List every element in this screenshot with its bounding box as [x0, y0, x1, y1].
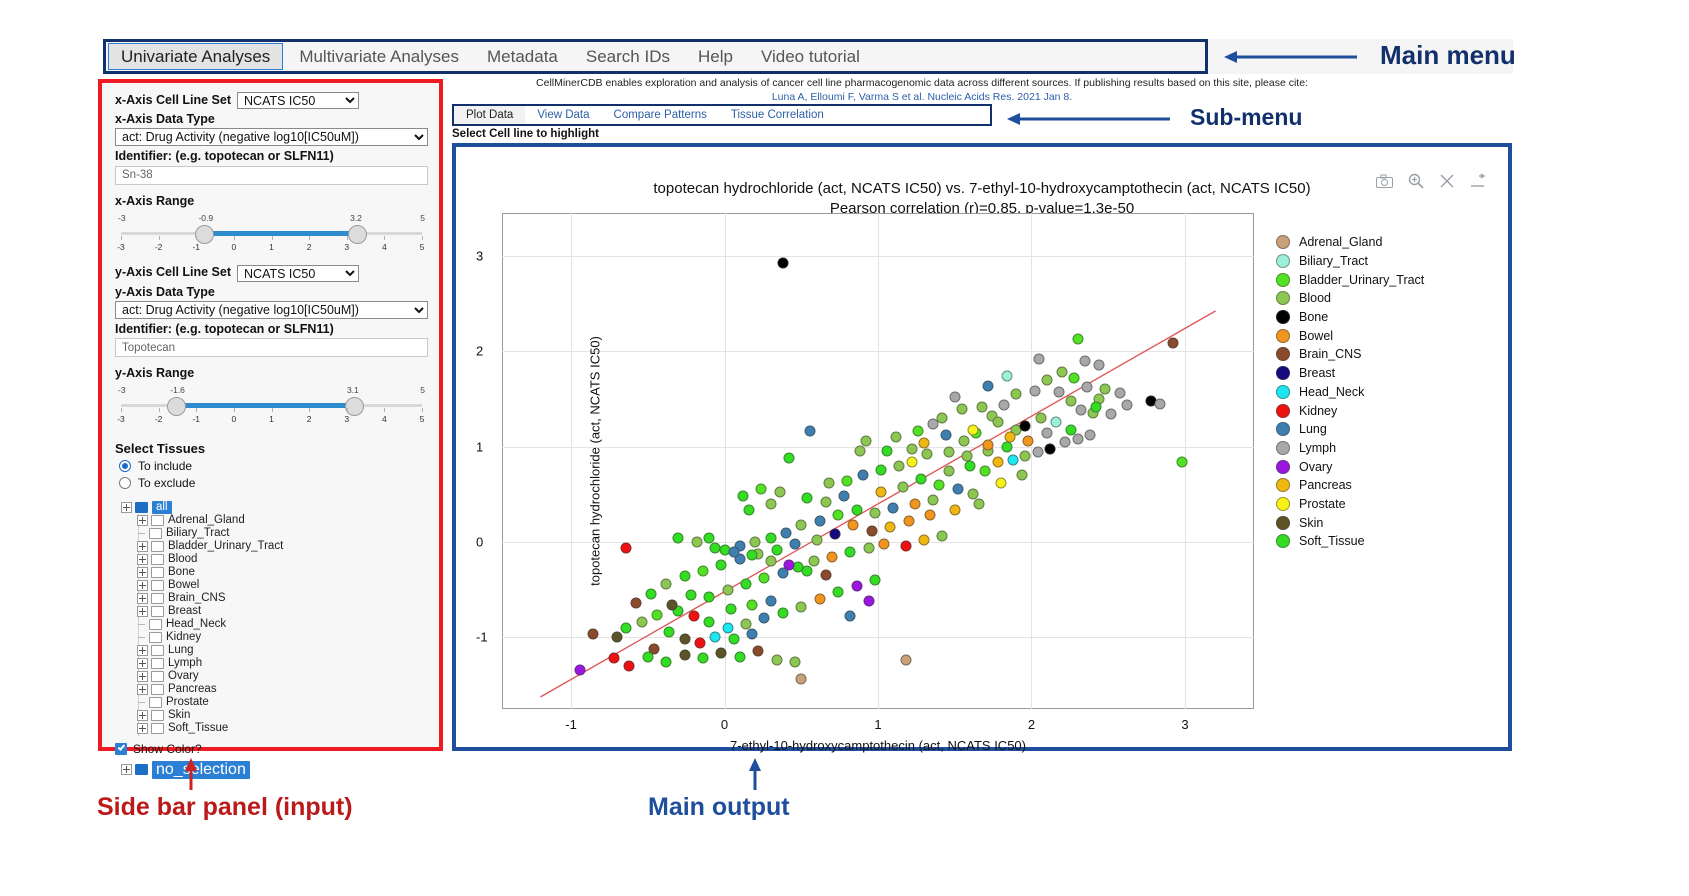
scatter-point[interactable]	[679, 571, 690, 582]
scatter-point[interactable]	[848, 519, 859, 530]
scatter-point[interactable]	[919, 437, 930, 448]
tree-node-biliary_tract[interactable]: Biliary_Tract	[137, 527, 428, 540]
legend-item[interactable]: Brain_CNS	[1276, 345, 1491, 364]
scatter-point[interactable]	[958, 435, 969, 446]
scatter-point[interactable]	[802, 565, 813, 576]
scatter-point[interactable]	[1041, 374, 1052, 385]
y-range-min-edge: -3	[118, 385, 126, 395]
scatter-point[interactable]	[1121, 399, 1132, 410]
scatter-point[interactable]	[820, 569, 831, 580]
legend-color-swatch	[1276, 273, 1290, 287]
legend-color-swatch	[1276, 516, 1290, 530]
subtab-view-data[interactable]: View Data	[525, 109, 601, 121]
scatter-point[interactable]	[1057, 367, 1068, 378]
scatter-point[interactable]	[652, 609, 663, 620]
tree-node-lymph[interactable]: Lymph	[137, 657, 428, 670]
scatter-point[interactable]	[1054, 387, 1065, 398]
expand-toggle-icon[interactable]	[137, 554, 148, 565]
scatter-point[interactable]	[716, 559, 727, 570]
legend-item[interactable]: Bladder_Urinary_Tract	[1276, 270, 1491, 289]
gridline-vertical	[571, 213, 572, 709]
scatter-point[interactable]	[734, 651, 745, 662]
scatter-point[interactable]	[759, 613, 770, 624]
scatter-point[interactable]	[826, 552, 837, 563]
scatter-point[interactable]	[737, 491, 748, 502]
expand-toggle-icon[interactable]	[137, 710, 148, 721]
legend-item[interactable]: Biliary_Tract	[1276, 252, 1491, 271]
expand-toggle-icon[interactable]	[137, 658, 148, 669]
scatter-point[interactable]	[621, 542, 632, 553]
scatter-point[interactable]	[879, 538, 890, 549]
scatter-point[interactable]	[741, 579, 752, 590]
scatter-point[interactable]	[1090, 401, 1101, 412]
scatter-point[interactable]	[1004, 432, 1015, 443]
scatter-point[interactable]	[667, 600, 678, 611]
scatter-point[interactable]	[725, 603, 736, 614]
scatter-point[interactable]	[664, 626, 675, 637]
tree-node-adrenal_gland[interactable]: Adrenal_Gland	[137, 514, 428, 527]
scatter-point[interactable]	[1051, 416, 1062, 427]
expand-toggle-icon[interactable]	[137, 606, 148, 617]
tree-node-bowel[interactable]: Bowel	[137, 579, 428, 592]
scatter-point[interactable]	[888, 502, 899, 513]
x-slider-ticks: -3 -2 -1 0 1 2 3 4 5	[121, 238, 422, 252]
tab-metadata[interactable]: Metadata	[473, 42, 572, 71]
scatter-point[interactable]	[796, 519, 807, 530]
scatter-point[interactable]	[906, 456, 917, 467]
scatter-point[interactable]	[882, 445, 893, 456]
scatter-point[interactable]	[765, 498, 776, 509]
x-axis-range-label: x-Axis Range	[115, 194, 428, 208]
scatter-point[interactable]	[710, 542, 721, 553]
show-color-toggle[interactable]: Show Color?	[115, 742, 428, 756]
sub-menu: Plot Data View Data Compare Patterns Tis…	[452, 104, 992, 126]
expand-toggle-icon[interactable]	[137, 567, 148, 578]
scatter-point[interactable]	[934, 479, 945, 490]
x-axis-cell-line-set-select[interactable]: NCATS IC50	[237, 92, 359, 109]
legend-item[interactable]: Pancreas	[1276, 476, 1491, 495]
scatter-point[interactable]	[621, 622, 632, 633]
scatter-point[interactable]	[1020, 420, 1031, 431]
legend-item[interactable]: Lymph	[1276, 439, 1491, 458]
legend-item[interactable]: Blood	[1276, 289, 1491, 308]
tab-help[interactable]: Help	[684, 42, 747, 71]
x-axis-identifier-input[interactable]	[115, 166, 428, 185]
scatter-point[interactable]	[575, 664, 586, 675]
scatter-point[interactable]	[1035, 413, 1046, 424]
expand-toggle-icon[interactable]	[137, 671, 148, 682]
tab-multivariate-analyses[interactable]: Multivariate Analyses	[285, 42, 473, 71]
scatter-point[interactable]	[698, 565, 709, 576]
legend-label: Skin	[1299, 516, 1323, 530]
expand-toggle-icon[interactable]	[121, 502, 132, 513]
scatter-point[interactable]	[949, 504, 960, 515]
scatter-point[interactable]	[774, 487, 785, 498]
scatter-point[interactable]	[796, 674, 807, 685]
scatter-point[interactable]	[854, 445, 865, 456]
tree-node-skin[interactable]: Skin	[137, 709, 428, 722]
expand-toggle-icon[interactable]	[137, 593, 148, 604]
arrow-sidebar	[178, 756, 204, 792]
scatter-point[interactable]	[1066, 395, 1077, 406]
scatter-point[interactable]	[679, 634, 690, 645]
scatter-point[interactable]	[771, 544, 782, 555]
scatter-point[interactable]	[728, 546, 739, 557]
tree-node-soft_tissue[interactable]: Soft_Tissue	[137, 722, 428, 735]
scatter-point[interactable]	[885, 521, 896, 532]
tree-leaf-icon	[137, 698, 146, 707]
legend-item[interactable]: Head_Neck	[1276, 383, 1491, 402]
scatter-point[interactable]	[1106, 409, 1117, 420]
tab-video-tutorial[interactable]: Video tutorial	[747, 42, 874, 71]
arrow-main-menu	[1222, 44, 1362, 70]
scatter-point[interactable]	[790, 657, 801, 668]
legend-label: Brain_CNS	[1299, 347, 1362, 361]
expand-toggle-icon[interactable]	[137, 684, 148, 695]
scatter-point[interactable]	[925, 510, 936, 521]
scatter-point[interactable]	[814, 594, 825, 605]
scatter-point[interactable]	[1032, 447, 1043, 458]
scatter-point[interactable]	[642, 651, 653, 662]
scatter-point[interactable]	[694, 638, 705, 649]
tree-node-lung[interactable]: Lung	[137, 644, 428, 657]
x-axis-data-type-select[interactable]: act: Drug Activity (negative log10[IC50u…	[115, 128, 428, 146]
scatter-point[interactable]	[765, 533, 776, 544]
scatter-point[interactable]	[968, 424, 979, 435]
scatter-point[interactable]	[957, 403, 968, 414]
scatter-point[interactable]	[1072, 333, 1083, 344]
annotation-main-output: Main output	[648, 793, 790, 822]
scatter-point[interactable]	[750, 537, 761, 548]
scatter-point[interactable]	[1081, 381, 1092, 392]
scatter-point[interactable]	[1001, 441, 1012, 452]
tree-node-prostate[interactable]: Prostate	[137, 696, 428, 709]
scatter-point[interactable]	[928, 495, 939, 506]
scatter-point[interactable]	[983, 439, 994, 450]
scatter-point[interactable]	[833, 510, 844, 521]
scatter-point[interactable]	[747, 628, 758, 639]
y-range-low-value: -1.6	[170, 385, 185, 395]
scatter-point[interactable]	[845, 611, 856, 622]
scatter-point[interactable]	[612, 632, 623, 643]
scatter-point[interactable]	[1044, 443, 1055, 454]
legend-item[interactable]: Kidney	[1276, 401, 1491, 420]
tree-node-no-selection[interactable]: no_selection	[121, 763, 428, 776]
scatter-point[interactable]	[811, 535, 822, 546]
scatter-point[interactable]	[952, 483, 963, 494]
scatter-point[interactable]	[915, 474, 926, 485]
scatter-point[interactable]	[747, 550, 758, 561]
scatter-point[interactable]	[863, 596, 874, 607]
x-tick-label: 1	[874, 717, 881, 732]
scatter-point[interactable]	[928, 418, 939, 429]
citation-link[interactable]: Luna A, Elloumi F, Varma S et al. Nuclei…	[452, 90, 1392, 104]
legend-item[interactable]: Bowel	[1276, 326, 1491, 345]
scatter-point[interactable]	[851, 504, 862, 515]
scatter-point[interactable]	[780, 527, 791, 538]
scatter-point[interactable]	[995, 477, 1006, 488]
scatter-point[interactable]	[771, 655, 782, 666]
scatter-point[interactable]	[777, 257, 788, 268]
scatter-point[interactable]	[919, 535, 930, 546]
legend-label: Blood	[1299, 291, 1331, 305]
scatter-point[interactable]	[863, 542, 874, 553]
scatter-point[interactable]	[756, 483, 767, 494]
scatter-point[interactable]	[679, 649, 690, 660]
subtab-tissue-correlation[interactable]: Tissue Correlation	[719, 109, 836, 121]
tab-univariate-analyses[interactable]: Univariate Analyses	[108, 43, 283, 70]
scatter-point[interactable]	[777, 607, 788, 618]
x-axis-identifier-label: Identifier: (e.g. topotecan or SLFN11)	[115, 149, 428, 163]
legend-item[interactable]: Adrenal_Gland	[1276, 233, 1491, 252]
tree-node-ovary[interactable]: Ovary	[137, 670, 428, 683]
folder-icon	[149, 632, 162, 643]
scatter-point[interactable]	[747, 600, 758, 611]
scatter-point[interactable]	[943, 447, 954, 458]
legend-label: Breast	[1299, 366, 1335, 380]
citation-block: CellMinerCDB enables exploration and ana…	[452, 76, 1392, 104]
scatter-point[interactable]	[876, 487, 887, 498]
tree-node-head_neck[interactable]: Head_Neck	[137, 618, 428, 631]
scatter-point[interactable]	[820, 497, 831, 508]
legend-item[interactable]: Soft_Tissue	[1276, 532, 1491, 551]
y-axis-identifier-input[interactable]	[115, 338, 428, 357]
scatter-point[interactable]	[897, 481, 908, 492]
scatter-point[interactable]	[636, 617, 647, 628]
scatter-point[interactable]	[894, 460, 905, 471]
scatter-point[interactable]	[998, 399, 1009, 410]
legend-color-swatch	[1276, 534, 1290, 548]
scatter-point[interactable]	[691, 537, 702, 548]
tree-node-label: Breast	[168, 605, 201, 618]
expand-toggle-icon[interactable]	[137, 580, 148, 591]
scatter-point[interactable]	[900, 655, 911, 666]
scatter-point[interactable]	[1167, 337, 1178, 348]
scatter-point[interactable]	[783, 453, 794, 464]
y-slider-ticks: -3 -2 -1 0 1 2 3 4 5	[121, 410, 422, 424]
scatter-point[interactable]	[1029, 386, 1040, 397]
scatter-point[interactable]	[688, 611, 699, 622]
tree-node-all[interactable]: all	[121, 501, 428, 514]
scatter-point[interactable]	[940, 430, 951, 441]
tree-node-bone[interactable]: Bone	[137, 566, 428, 579]
y-slider-fill	[178, 403, 353, 408]
folder-icon	[151, 567, 164, 578]
arrow-main-output	[742, 756, 768, 792]
scatter-point[interactable]	[661, 657, 672, 668]
legend-item[interactable]: Ovary	[1276, 457, 1491, 476]
plot-legend: Adrenal_GlandBiliary_TractBladder_Urinar…	[1276, 233, 1491, 551]
tree-node-brain_cns[interactable]: Brain_CNS	[137, 592, 428, 605]
tree-leaf-icon	[137, 529, 146, 538]
legend-label: Lymph	[1299, 441, 1336, 455]
expand-toggle-icon[interactable]	[137, 541, 148, 552]
scatter-point[interactable]	[685, 590, 696, 601]
scatter-point[interactable]	[869, 508, 880, 519]
scatter-point[interactable]	[869, 575, 880, 586]
scatter-point[interactable]	[710, 632, 721, 643]
scatter-point[interactable]	[587, 628, 598, 639]
scatter-point[interactable]	[1072, 434, 1083, 445]
y-range-max-edge: 5	[420, 385, 425, 395]
scatter-point[interactable]	[857, 470, 868, 481]
scatter-point[interactable]	[609, 653, 620, 664]
scatter-point[interactable]	[845, 546, 856, 557]
legend-label: Biliary_Tract	[1299, 254, 1368, 268]
scatter-point[interactable]	[909, 498, 920, 509]
scatter-point[interactable]	[805, 426, 816, 437]
x-axis-range-slider[interactable]: -3 5 -0.9 3.2 -3 -2 -1 0 1 2 3 4 5	[115, 211, 428, 255]
scatter-point[interactable]	[1093, 359, 1104, 370]
scatter-point[interactable]	[922, 449, 933, 460]
scatter-point[interactable]	[790, 538, 801, 549]
scatter-point[interactable]	[1155, 398, 1166, 409]
scatter-point[interactable]	[1060, 436, 1071, 447]
expand-toggle-icon[interactable]	[121, 764, 132, 775]
legend-color-swatch	[1276, 310, 1290, 324]
scatter-point[interactable]	[1001, 371, 1012, 382]
y-axis-range-slider[interactable]: -3 5 -1.6 3.1 -3 -2 -1 0 1 2 3 4 5	[115, 383, 428, 427]
scatter-point[interactable]	[839, 491, 850, 502]
scatter-point[interactable]	[992, 456, 1003, 467]
legend-item[interactable]: Breast	[1276, 364, 1491, 383]
legend-item[interactable]: Lung	[1276, 420, 1491, 439]
scatter-point[interactable]	[698, 653, 709, 664]
scatter-point[interactable]	[796, 601, 807, 612]
scatter-point[interactable]	[765, 596, 776, 607]
scatter-point[interactable]	[912, 426, 923, 437]
scatter-point[interactable]	[1075, 405, 1086, 416]
scatter-point[interactable]	[1080, 355, 1091, 366]
scatter-point[interactable]	[965, 460, 976, 471]
scatter-point[interactable]	[759, 573, 770, 584]
legend-label: Soft_Tissue	[1299, 534, 1365, 548]
scatter-point[interactable]	[992, 416, 1003, 427]
scatter-point[interactable]	[937, 531, 948, 542]
scatter-point[interactable]	[722, 584, 733, 595]
scatter-point[interactable]	[802, 493, 813, 504]
scatter-point[interactable]	[943, 466, 954, 477]
y-axis-cell-line-set-select[interactable]: NCATS IC50	[237, 265, 359, 282]
scatter-point[interactable]	[1011, 389, 1022, 400]
scatter-point[interactable]	[1008, 455, 1019, 466]
legend-label: Bladder_Urinary_Tract	[1299, 273, 1424, 287]
tissue-mode-exclude[interactable]: To exclude	[119, 476, 428, 490]
scatter-point[interactable]	[974, 498, 985, 509]
checkbox-icon[interactable]	[115, 743, 127, 755]
legend-item[interactable]: Bone	[1276, 308, 1491, 327]
scatter-point[interactable]	[1020, 451, 1031, 462]
gridline-vertical	[725, 213, 726, 709]
scatter-point[interactable]	[876, 464, 887, 475]
tissue-mode-include[interactable]: To include	[119, 459, 428, 473]
scatter-point[interactable]	[949, 392, 960, 403]
radio-exclude-label: To exclude	[138, 476, 195, 490]
tree-node-pancreas[interactable]: Pancreas	[137, 683, 428, 696]
scatter-point[interactable]	[645, 588, 656, 599]
scatter-point[interactable]	[1115, 388, 1126, 399]
scatter-point[interactable]	[891, 432, 902, 443]
y-tick-label: 3	[476, 248, 483, 263]
scatter-point[interactable]	[753, 645, 764, 656]
legend-item[interactable]: Prostate	[1276, 495, 1491, 514]
legend-label: Bowel	[1299, 329, 1333, 343]
scatter-point[interactable]	[765, 556, 776, 567]
scatter-point[interactable]	[851, 580, 862, 591]
legend-label: Bone	[1299, 310, 1328, 324]
legend-color-swatch	[1276, 441, 1290, 455]
gridline-horizontal	[502, 447, 1254, 448]
scatter-point[interactable]	[624, 661, 635, 672]
scatter-point[interactable]	[833, 586, 844, 597]
y-axis-data-type-select[interactable]: act: Drug Activity (negative log10[IC50u…	[115, 301, 428, 319]
scatter-point[interactable]	[630, 598, 641, 609]
scatter-point[interactable]	[716, 647, 727, 658]
gridline-horizontal	[502, 351, 1254, 352]
scatter-point[interactable]	[1084, 430, 1095, 441]
scatter-point[interactable]	[783, 559, 794, 570]
scatter-point[interactable]	[1066, 424, 1077, 435]
y-tick-label: -1	[476, 630, 488, 645]
tab-search-ids[interactable]: Search IDs	[572, 42, 684, 71]
scatter-point[interactable]	[1176, 456, 1187, 467]
scatter-point[interactable]	[980, 466, 991, 477]
scatter-point[interactable]	[673, 533, 684, 544]
scatter-point[interactable]	[704, 617, 715, 628]
tree-node-label: Bowel	[168, 579, 199, 592]
tree-node-bladder_urinary_tract[interactable]: Bladder_Urinary_Tract	[137, 540, 428, 553]
scatter-point[interactable]	[983, 380, 994, 391]
expand-toggle-icon[interactable]	[137, 515, 148, 526]
expand-toggle-icon[interactable]	[137, 645, 148, 656]
scatter-point[interactable]	[728, 634, 739, 645]
subtab-plot-data[interactable]: Plot Data	[454, 106, 525, 124]
folder-icon	[151, 684, 164, 695]
scatter-point[interactable]	[823, 477, 834, 488]
scatter-point[interactable]	[1069, 373, 1080, 384]
scatter-point[interactable]	[814, 516, 825, 527]
scatter-point[interactable]	[903, 516, 914, 527]
tree-node-label: Kidney	[166, 631, 201, 644]
scatter-point[interactable]	[722, 622, 733, 633]
tree-node-all-label: all	[152, 501, 172, 514]
expand-toggle-icon[interactable]	[137, 723, 148, 734]
subtab-compare-patterns[interactable]: Compare Patterns	[602, 109, 719, 121]
scatter-point[interactable]	[1017, 470, 1028, 481]
scatter-point[interactable]	[1034, 353, 1045, 364]
scatter-point[interactable]	[1041, 428, 1052, 439]
tree-node-blood[interactable]: Blood	[137, 553, 428, 566]
folder-icon	[151, 606, 164, 617]
scatter-point[interactable]	[977, 401, 988, 412]
scatter-point[interactable]	[906, 443, 917, 454]
scatter-point[interactable]	[661, 579, 672, 590]
scatter-point[interactable]	[842, 476, 853, 487]
tissue-tree: all Adrenal_GlandBiliary_TractBladder_Ur…	[115, 501, 428, 735]
scatter-point[interactable]	[704, 592, 715, 603]
scatter-point[interactable]	[866, 525, 877, 536]
scatter-point[interactable]	[830, 529, 841, 540]
scatter-point[interactable]	[1023, 435, 1034, 446]
scatter-point[interactable]	[900, 540, 911, 551]
legend-color-swatch	[1276, 422, 1290, 436]
plot-area[interactable]: -10123 -10123 topotecan hydrochloride (a…	[502, 213, 1254, 709]
tree-node-breast[interactable]: Breast	[137, 605, 428, 618]
scatter-point[interactable]	[744, 504, 755, 515]
tree-node-kidney[interactable]: Kidney	[137, 631, 428, 644]
legend-item[interactable]: Skin	[1276, 513, 1491, 532]
radio-include-label: To include	[138, 459, 192, 473]
